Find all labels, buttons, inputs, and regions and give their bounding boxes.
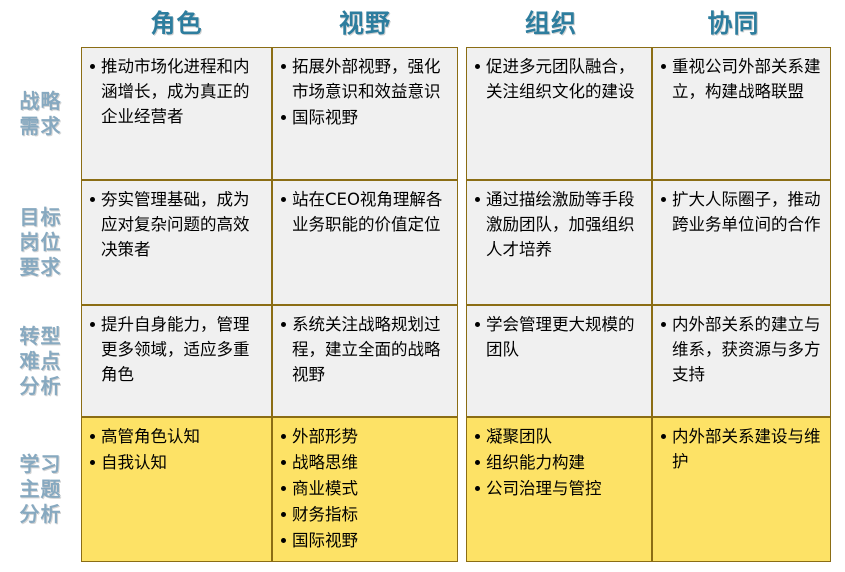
cell-strategic-needs-vision: 拓展外部视野，强化市场意识和效益意识 国际视野 — [272, 47, 458, 180]
bullet-list: 站在CEO视角理解各业务职能的价值定位 — [279, 187, 451, 237]
bullet-list: 推动市场化进程和内涵增长，成为真正的企业经营者 — [88, 54, 265, 129]
cell-target-position-collaboration: 扩大人际圈子，推动跨业务单位间的合作 — [652, 180, 831, 305]
bullet-list: 凝聚团队 组织能力构建 公司治理与管控 — [473, 424, 645, 501]
bullet-list: 拓展外部视野，强化市场意识和效益意识 国际视野 — [279, 54, 451, 130]
list-item: 高管角色认知 — [88, 424, 265, 449]
list-item: 系统关注战略规划过程，建立全面的战略视野 — [279, 312, 451, 387]
cell-target-position-organization: 通过描绘激励等手段激励团队，加强组织人才培养 — [466, 180, 652, 305]
row-label-line: 目标 — [20, 205, 62, 230]
bullet-list: 扩大人际圈子，推动跨业务单位间的合作 — [659, 187, 824, 237]
cell-learning-topic-collaboration: 内外部关系建设与维护 — [652, 417, 831, 562]
row-label-line: 分析 — [20, 502, 62, 527]
list-item: 提升自身能力，管理更多领域，适应多重角色 — [88, 312, 265, 387]
row-label-line: 需求 — [20, 114, 62, 139]
cell-transformation-vision: 系统关注战略规划过程，建立全面的战略视野 — [272, 305, 458, 417]
column-header-organization: 组织 — [458, 0, 644, 47]
row-label-line: 战略 — [20, 89, 62, 114]
cell-learning-topic-vision: 外部形势 战略思维 商业模式 财务指标 国际视野 — [272, 417, 458, 562]
list-item: 财务指标 — [279, 502, 451, 527]
bullet-list: 内外部关系建设与维护 — [659, 424, 824, 474]
cell-learning-topic-role: 高管角色认知 自我认知 — [81, 417, 272, 562]
bullet-list: 高管角色认知 自我认知 — [88, 424, 265, 475]
bullet-list: 通过描绘激励等手段激励团队，加强组织人才培养 — [473, 187, 645, 262]
cell-target-position-role: 夯实管理基础，成为应对复杂问题的高效决策者 — [81, 180, 272, 305]
list-item: 站在CEO视角理解各业务职能的价值定位 — [279, 187, 451, 237]
bullet-list: 夯实管理基础，成为应对复杂问题的高效决策者 — [88, 187, 265, 262]
column-header-collaboration: 协同 — [644, 0, 823, 47]
list-item: 夯实管理基础，成为应对复杂问题的高效决策者 — [88, 187, 265, 262]
list-item: 国际视野 — [279, 528, 451, 553]
row-label-line: 学习 — [20, 452, 62, 477]
list-item: 外部形势 — [279, 424, 451, 449]
row-label-learning-topic-analysis: 学习 主题 分析 — [0, 417, 81, 562]
list-item: 学会管理更大规模的团队 — [473, 312, 645, 362]
bullet-list: 外部形势 战略思维 商业模式 财务指标 国际视野 — [279, 424, 451, 553]
row-label-target-position-requirements: 目标 岗位 要求 — [0, 180, 81, 305]
cell-learning-topic-organization: 凝聚团队 组织能力构建 公司治理与管控 — [466, 417, 652, 562]
header-corner-spacer — [0, 0, 81, 47]
competency-matrix: 角色 视野 组织 协同 战略 需求 推动市场化进程和内涵增长，成为真正的企业经营… — [0, 0, 845, 572]
row-label-line: 分析 — [20, 374, 62, 399]
row-label-line: 转型 — [20, 324, 62, 349]
cell-target-position-vision: 站在CEO视角理解各业务职能的价值定位 — [272, 180, 458, 305]
list-item: 组织能力构建 — [473, 450, 645, 475]
list-item: 国际视野 — [279, 105, 451, 130]
list-item: 促进多元团队融合，关注组织文化的建设 — [473, 54, 645, 104]
list-item: 通过描绘激励等手段激励团队，加强组织人才培养 — [473, 187, 645, 262]
cell-strategic-needs-organization: 促进多元团队融合，关注组织文化的建设 — [466, 47, 652, 180]
bullet-list: 提升自身能力，管理更多领域，适应多重角色 — [88, 312, 265, 387]
row-label-line: 主题 — [20, 477, 62, 502]
column-header-vision: 视野 — [272, 0, 458, 47]
list-item: 战略思维 — [279, 450, 451, 475]
list-item: 内外部关系的建立与维系，获资源与多方支持 — [659, 312, 824, 387]
bullet-list: 学会管理更大规模的团队 — [473, 312, 645, 362]
list-item: 自我认知 — [88, 450, 265, 475]
bullet-list: 重视公司外部关系建立，构建战略联盟 — [659, 54, 824, 104]
row-label-line: 岗位 — [20, 230, 62, 255]
bullet-list: 促进多元团队融合，关注组织文化的建设 — [473, 54, 645, 104]
list-item: 扩大人际圈子，推动跨业务单位间的合作 — [659, 187, 824, 237]
list-item: 推动市场化进程和内涵增长，成为真正的企业经营者 — [88, 54, 265, 129]
list-item: 凝聚团队 — [473, 424, 645, 449]
cell-transformation-role: 提升自身能力，管理更多领域，适应多重角色 — [81, 305, 272, 417]
column-header-row: 角色 视野 组织 协同 — [0, 0, 845, 47]
cell-strategic-needs-role: 推动市场化进程和内涵增长，成为真正的企业经营者 — [81, 47, 272, 180]
list-item: 重视公司外部关系建立，构建战略联盟 — [659, 54, 824, 104]
cell-strategic-needs-collaboration: 重视公司外部关系建立，构建战略联盟 — [652, 47, 831, 180]
row-label-line: 难点 — [20, 349, 62, 374]
column-header-role: 角色 — [81, 0, 272, 47]
row-label-strategic-needs: 战略 需求 — [0, 47, 81, 180]
bullet-list: 内外部关系的建立与维系，获资源与多方支持 — [659, 312, 824, 387]
row-label-transformation-difficulty-analysis: 转型 难点 分析 — [0, 305, 81, 417]
cell-transformation-collaboration: 内外部关系的建立与维系，获资源与多方支持 — [652, 305, 831, 417]
list-item: 内外部关系建设与维护 — [659, 424, 824, 474]
list-item: 拓展外部视野，强化市场意识和效益意识 — [279, 54, 451, 104]
row-label-line: 要求 — [20, 255, 62, 280]
list-item: 公司治理与管控 — [473, 476, 645, 501]
bullet-list: 系统关注战略规划过程，建立全面的战略视野 — [279, 312, 451, 387]
list-item: 商业模式 — [279, 476, 451, 501]
cell-transformation-organization: 学会管理更大规模的团队 — [466, 305, 652, 417]
